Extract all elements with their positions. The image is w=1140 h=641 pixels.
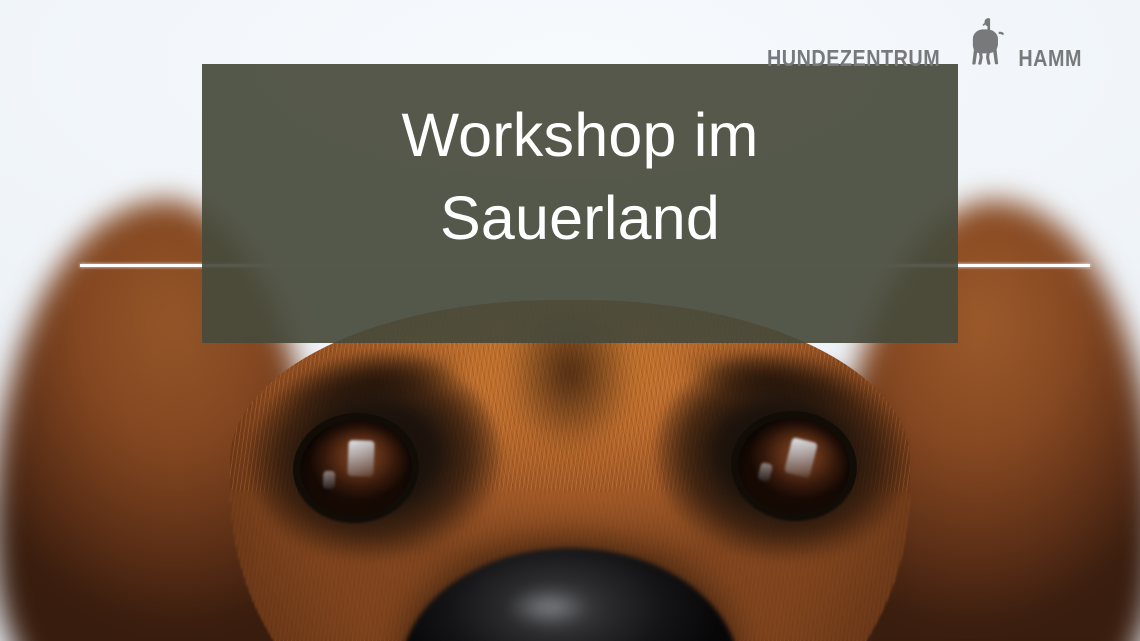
logo-wordmark-right: HAMM — [1018, 47, 1082, 70]
dog-eye-left-highlight-secondary — [323, 471, 336, 489]
dog-eye-right-highlight — [784, 437, 818, 478]
dog-silhouette-icon — [972, 16, 1006, 70]
dog-eye-right-highlight-secondary — [758, 462, 774, 482]
dog-nose-highlight — [488, 580, 608, 634]
logo-wordmark-left: HUNDEZENTRUM — [767, 47, 940, 70]
page-title: Workshop im Sauerland — [236, 94, 924, 260]
dog-eye-left-highlight — [348, 440, 375, 477]
promo-banner: Workshop im Sauerland HUNDEZENTRUM HAMM — [0, 0, 1140, 641]
title-panel: Workshop im Sauerland — [202, 64, 958, 343]
logo[interactable]: HUNDEZENTRUM HAMM — [767, 14, 1082, 70]
